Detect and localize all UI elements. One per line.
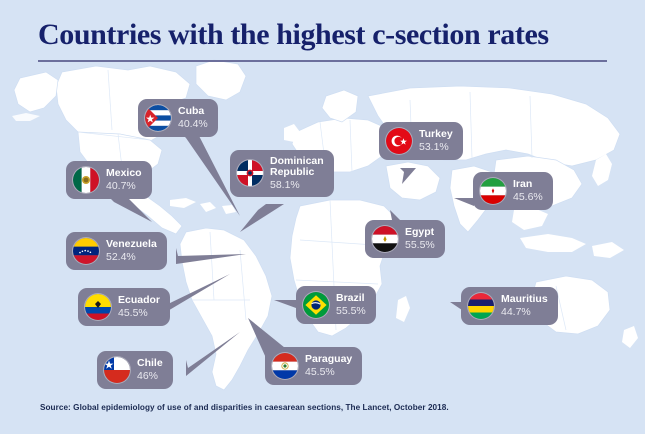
callout-cuba-text: Cuba 40.4% [178,106,208,130]
country-rate: 45.5% [305,367,352,378]
flag-dominican-republic-icon [237,160,263,186]
flag-venezuela-icon [73,238,99,264]
flag-paraguay-icon [272,353,298,379]
country-name: Iran [513,179,543,190]
country-name: Brazil [336,293,366,304]
callout-venezuela[interactable]: Venezuela 52.4% [66,232,167,270]
country-name: Dominican Republic [270,156,324,179]
country-name: Ecuador [118,295,160,306]
country-rate: 53.1% [419,142,453,153]
country-name: Paraguay [305,354,352,365]
callout-egypt-text: Egypt 55.5% [405,227,435,251]
flag-iran-icon [480,178,506,204]
flag-mauritius-icon [468,293,494,319]
country-rate: 44.7% [501,307,548,318]
flag-chile-icon [104,357,130,383]
source-note: Source: Global epidemiology of use of an… [40,403,449,412]
country-rate: 40.7% [106,181,142,192]
callout-mauritius[interactable]: Mauritius 44.7% [461,287,558,325]
callout-dominican-republic-text: Dominican Republic 58.1% [270,156,324,191]
header: Countries with the highest c-section rat… [0,0,645,70]
callout-mauritius-text: Mauritius 44.7% [501,294,548,318]
callout-brazil[interactable]: Brazil 55.5% [296,286,376,324]
callout-turkey[interactable]: Turkey 53.1% [379,122,463,160]
callout-mexico[interactable]: Mexico 40.7% [66,161,152,199]
flag-cuba-icon [145,105,171,131]
country-rate: 46% [137,371,163,382]
flag-mexico-icon [73,167,99,193]
country-rate: 45.5% [118,308,160,319]
callout-turkey-text: Turkey 53.1% [419,129,453,153]
country-name: Chile [137,358,163,369]
callout-brazil-text: Brazil 55.5% [336,293,366,317]
country-rate: 52.4% [106,252,157,263]
callout-iran[interactable]: Iran 45.6% [473,172,553,210]
callout-mexico-text: Mexico 40.7% [106,168,142,192]
country-rate: 55.5% [405,240,435,251]
flag-ecuador-icon [85,294,111,320]
country-rate: 58.1% [270,180,324,191]
callout-chile[interactable]: Chile 46% [97,351,173,389]
country-name: Venezuela [106,239,157,250]
callout-cuba[interactable]: Cuba 40.4% [138,99,218,137]
flag-egypt-icon [372,226,398,252]
flag-brazil-icon [303,292,329,318]
country-name: Mexico [106,168,142,179]
country-name: Cuba [178,106,208,117]
infographic-canvas: Countries with the highest c-section rat… [0,0,645,434]
callout-paraguay-text: Paraguay 45.5% [305,354,352,378]
title-divider [38,60,607,62]
callout-egypt[interactable]: Egypt 55.5% [365,220,445,258]
country-name: Mauritius [501,294,548,305]
country-rate: 45.6% [513,192,543,203]
callout-paraguay[interactable]: Paraguay 45.5% [265,347,362,385]
callout-iran-text: Iran 45.6% [513,179,543,203]
callout-venezuela-text: Venezuela 52.4% [106,239,157,263]
flag-turkey-icon [386,128,412,154]
country-rate: 55.5% [336,306,366,317]
callout-dominican-republic[interactable]: Dominican Republic 58.1% [230,150,334,197]
page-title: Countries with the highest c-section rat… [38,18,549,52]
callout-chile-text: Chile 46% [137,358,163,382]
callout-ecuador[interactable]: Ecuador 45.5% [78,288,170,326]
country-name: Egypt [405,227,435,238]
country-name: Turkey [419,129,453,140]
country-rate: 40.4% [178,119,208,130]
callout-ecuador-text: Ecuador 45.5% [118,295,160,319]
